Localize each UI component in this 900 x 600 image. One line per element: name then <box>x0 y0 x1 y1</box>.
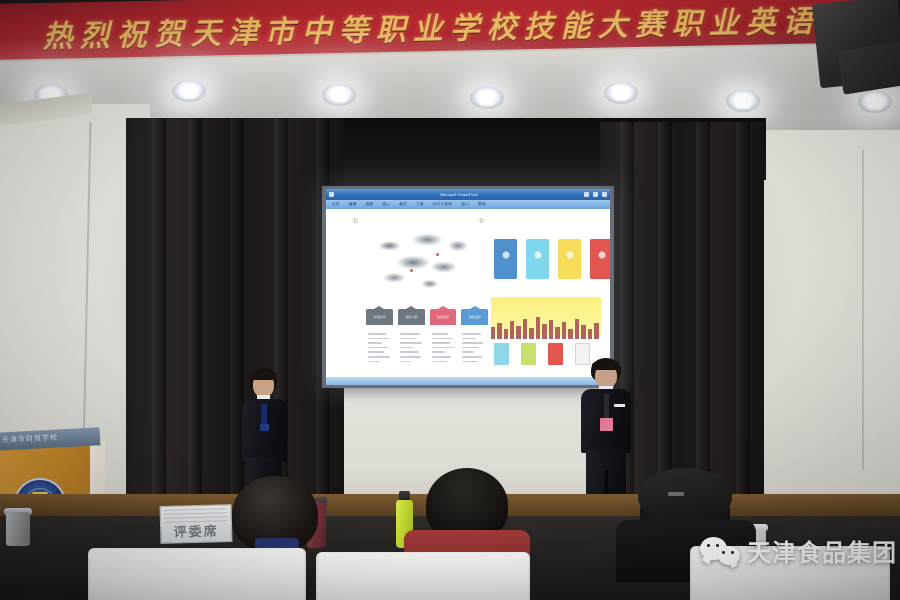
powerpoint-menu-bar: 文件 编辑 视图 插入 格式 工具 幻灯片放映 窗口 帮助 <box>326 200 610 209</box>
spotlight-2 <box>172 80 206 102</box>
presenter-female-badge <box>260 424 269 431</box>
city-skyline-graphic <box>489 317 605 339</box>
slide-text-column-2 <box>400 333 424 365</box>
projection-screen: Microsoft PowerPoint 文件 编辑 视图 插入 格式 工具 幻… <box>326 189 610 385</box>
slide-card-s-green <box>521 343 536 365</box>
slide-badge-price-label: 价格区间 <box>373 315 385 319</box>
menu-format[interactable]: 格式 <box>399 202 407 207</box>
presenter-female-fringe <box>251 369 276 380</box>
judges-seat-sign-text: 评委席 <box>173 520 218 540</box>
wechat-watermark: 天津食品集团 <box>700 533 897 568</box>
menu-tools[interactable]: 工具 <box>416 202 424 207</box>
slide-card-s-red <box>548 343 563 365</box>
presenter-male-badge <box>600 418 613 431</box>
wall-right-seam <box>862 150 864 470</box>
chair-back-mid <box>316 552 530 600</box>
slide-badge-channel-label: 销售渠道 <box>469 315 481 319</box>
slide-badge-brand: 品牌定位 <box>430 309 457 325</box>
ceiling-speaker-secondary <box>837 41 900 94</box>
presenter-male-lanyard <box>604 394 609 420</box>
menu-slideshow[interactable]: 幻灯片放映 <box>433 202 452 207</box>
slide-text-column-4 <box>462 333 486 365</box>
slide-card-row-bottom <box>494 343 590 365</box>
maximize-icon[interactable] <box>593 192 598 197</box>
spotlight-4 <box>470 87 504 109</box>
powerpoint-title-bar: Microsoft PowerPoint <box>326 189 610 200</box>
teacup <box>6 512 30 546</box>
spotlight-3 <box>322 84 356 106</box>
slide-badge-price: 价格区间 <box>366 309 393 325</box>
slide-badge-row: 价格区间 消费人群 品牌定位 销售渠道 <box>366 309 488 325</box>
presenter-female-lanyard <box>261 404 267 426</box>
menu-edit[interactable]: 编辑 <box>349 202 357 207</box>
spotlight-6 <box>726 90 760 112</box>
presenter-male-pocket-square <box>614 404 625 407</box>
menu-file[interactable]: 文件 <box>332 202 340 207</box>
powerpoint-status-bar <box>326 377 610 385</box>
judges-seat-sign: 评委席 <box>160 504 233 544</box>
spotlight-7 <box>858 91 892 113</box>
slide-canvas: ① ② 价格区间 消费人群 品牌定位 销售渠道 <box>326 209 610 377</box>
menu-window[interactable]: 窗口 <box>461 202 469 207</box>
menu-insert[interactable]: 插入 <box>382 202 390 207</box>
slide-text-column-3 <box>432 333 456 365</box>
slide-card-row-top <box>494 239 610 279</box>
slide-card-blue <box>494 239 517 279</box>
menu-view[interactable]: 视图 <box>366 202 374 207</box>
slide-text-column-1 <box>368 333 392 365</box>
slide-card-yellow <box>558 239 581 279</box>
slide-badge-audience: 消费人群 <box>398 309 425 325</box>
slide-card-cyan <box>526 239 549 279</box>
photo-scene: 热烈祝贺天津市中等职业学校技能大赛职业英语技能赛项圆 Micros <box>0 0 900 600</box>
menu-help[interactable]: 帮助 <box>478 202 486 207</box>
presenter-male-fringe <box>592 360 620 370</box>
slide-marker-1: ① <box>352 217 358 225</box>
slide-card-s-cyan <box>494 343 509 365</box>
slide-card-red <box>590 239 610 279</box>
slide-badge-channel: 销售渠道 <box>461 309 488 325</box>
slide-badge-brand-label: 品牌定位 <box>437 315 449 319</box>
app-icon <box>329 192 334 197</box>
close-icon[interactable] <box>602 192 607 197</box>
china-map-graphic <box>366 223 484 299</box>
wall-right <box>748 130 900 510</box>
spotlight-5 <box>604 82 638 104</box>
presenter-male <box>578 358 634 510</box>
chair-back-left <box>88 548 306 600</box>
cap-logo <box>668 492 684 496</box>
wechat-icon <box>700 537 740 565</box>
stage-curtain-left <box>126 118 344 510</box>
app-title: Microsoft PowerPoint <box>440 192 478 197</box>
cap-hat <box>638 468 732 522</box>
minimize-icon[interactable] <box>584 192 589 197</box>
slide-badge-audience-label: 消费人群 <box>405 315 417 319</box>
watermark-text: 天津食品集团 <box>747 533 897 568</box>
